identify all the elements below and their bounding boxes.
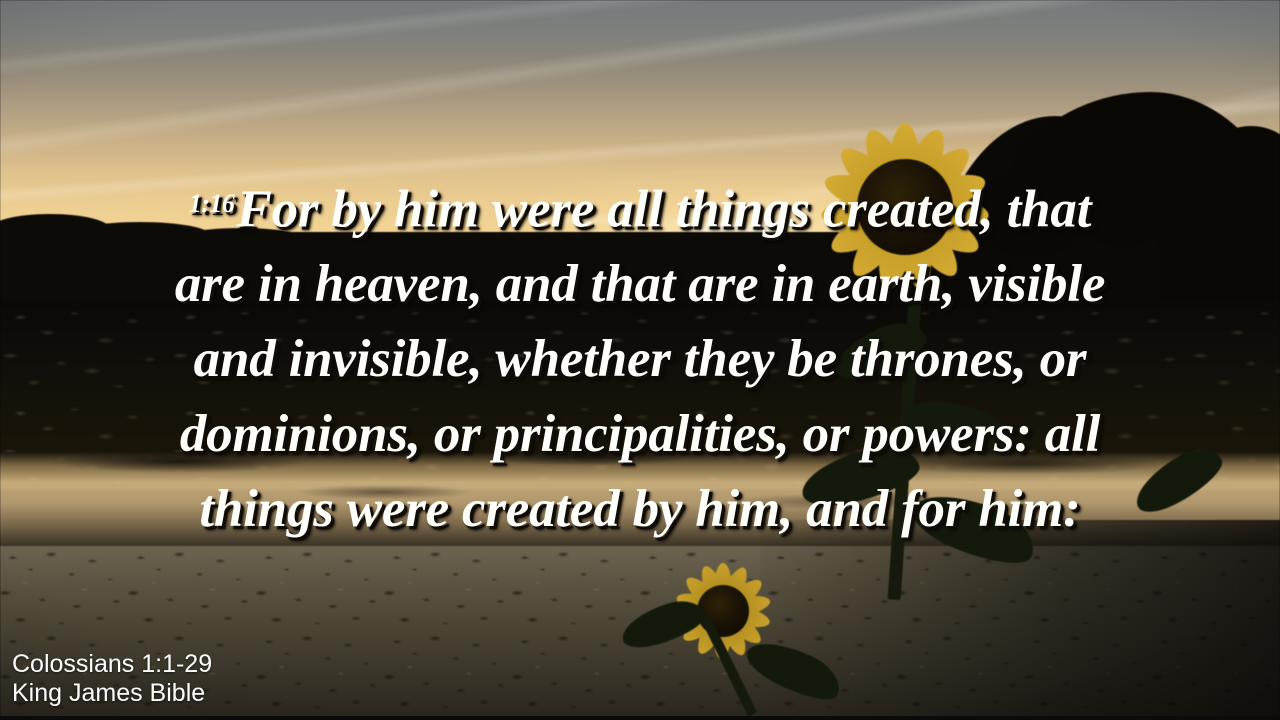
verse-slide: 1:16For by him were all things created, … — [0, 0, 1280, 720]
verse-line-4: dominions, or principalities, or powers:… — [180, 405, 1100, 463]
bible-translation: King James Bible — [12, 679, 212, 708]
verse-number: 1:16 — [189, 189, 235, 218]
verse-line-2: are in heaven, and that are in earth, vi… — [175, 255, 1105, 313]
verse-text: 1:16For by him were all things created, … — [75, 166, 1205, 547]
verse-line-5: things were created by him, and for him: — [199, 480, 1080, 538]
scripture-reference: Colossians 1:1-29 — [12, 650, 212, 679]
verse-line-1: For by him were all things created, that — [236, 180, 1091, 238]
verse-line-3: and invisible, whether they be thrones, … — [194, 330, 1087, 388]
letterbox-bottom-bar — [0, 716, 1280, 720]
caption-block: Colossians 1:1-29 King James Bible — [12, 650, 212, 708]
